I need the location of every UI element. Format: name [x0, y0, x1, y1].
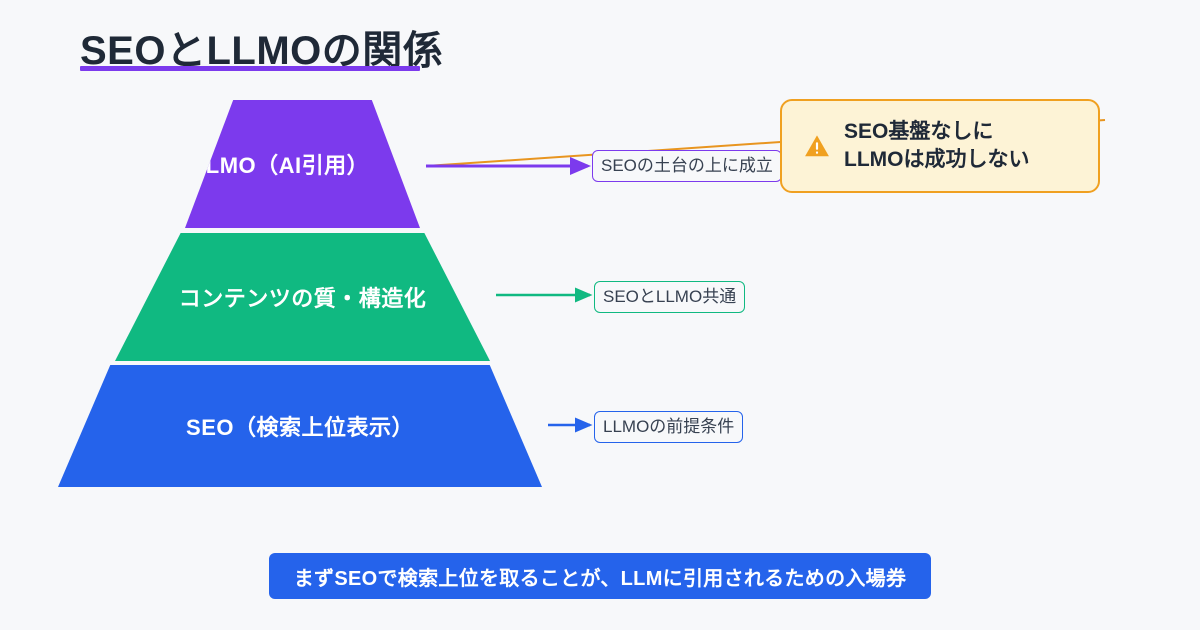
note-chip-llmo: SEOの土台の上に成立	[592, 150, 782, 182]
warning-triangle-icon	[804, 133, 830, 159]
warning-callout-text: SEO基盤なしに LLMOは成功しない	[844, 118, 1029, 173]
pyramid-tier-content-label: コンテンツの質・構造化	[179, 281, 427, 313]
pyramid-tier-seo-label: SEO（検索上位表示）	[186, 410, 414, 442]
pyramid-tier-content: コンテンツの質・構造化	[115, 233, 490, 361]
note-chip-content: SEOとLLMO共通	[594, 281, 745, 313]
infographic-canvas: SEOとLLMOの関係 LLMO（AI引用） コンテンツの質・構造化 SEO（検…	[0, 0, 1200, 630]
pyramid-tier-seo: SEO（検索上位表示）	[58, 365, 542, 487]
warning-callout: SEO基盤なしに LLMOは成功しない	[780, 99, 1100, 193]
title-underline	[80, 66, 420, 71]
pyramid-tier-llmo-label: LLMO（AI引用）	[192, 148, 369, 180]
bottom-banner: まずSEOで検索上位を取ることが、LLMに引用されるための入場券	[269, 553, 931, 599]
pyramid-tier-llmo: LLMO（AI引用）	[185, 100, 420, 228]
note-chip-seo: LLMOの前提条件	[594, 411, 743, 443]
